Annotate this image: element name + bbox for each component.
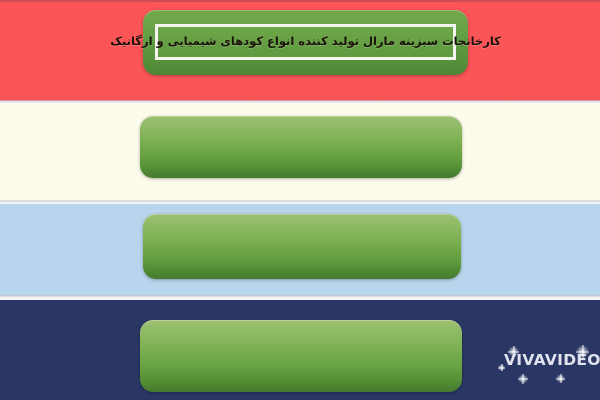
- band-divider-2: [0, 200, 600, 204]
- band-divider-3: [0, 295, 600, 299]
- slide-title-text: کارخانجات سبزینه مارال تولید کننده انواع…: [110, 36, 501, 48]
- sparkle-star-icon: [556, 374, 565, 383]
- green-title-box[interactable]: کارخانجات سبزینه مارال تولید کننده انواع…: [143, 10, 468, 75]
- top-edge-hairline: [0, 0, 600, 2]
- green-box-2[interactable]: [140, 116, 462, 178]
- vivavideo-watermark: VIVAVIDEO: [498, 344, 590, 388]
- green-box-4[interactable]: [140, 320, 462, 392]
- slide-canvas: کارخانجات سبزینه مارال تولید کننده انواع…: [0, 0, 600, 400]
- band-divider-1: [0, 100, 600, 104]
- sparkle-star-icon: [518, 374, 528, 384]
- watermark-label: VIVAVIDEO: [504, 353, 600, 369]
- green-box-3[interactable]: [143, 214, 461, 279]
- title-frame: کارخانجات سبزینه مارال تولید کننده انواع…: [155, 24, 456, 60]
